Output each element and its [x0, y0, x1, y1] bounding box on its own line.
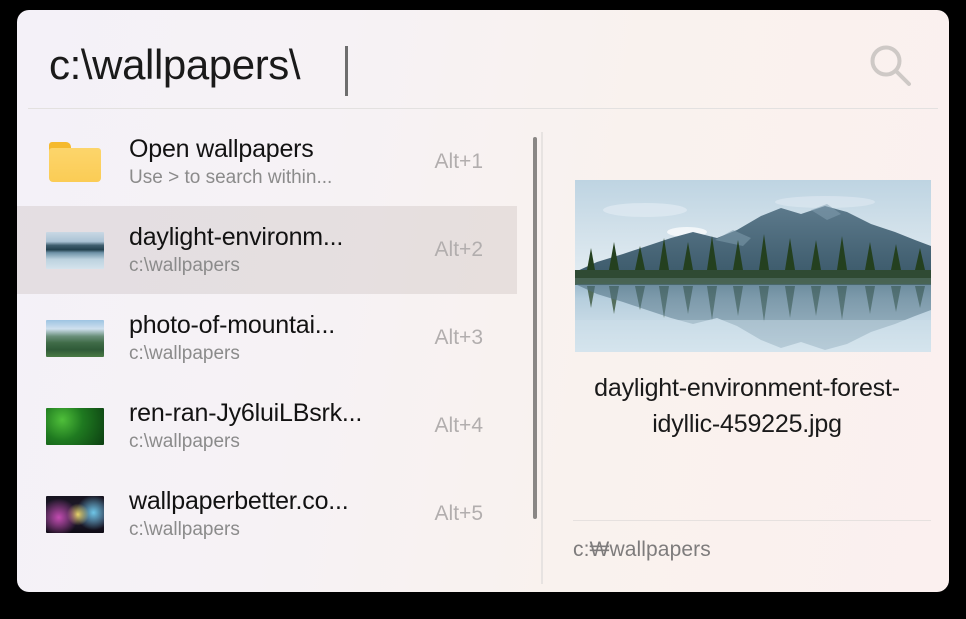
result-shortcut: Alt+1	[435, 150, 517, 174]
list-item[interactable]: photo-of-mountai... c:\wallpapers Alt+3	[17, 294, 517, 382]
search-icon[interactable]	[867, 42, 915, 90]
result-icon	[46, 404, 104, 448]
image-thumbnail	[46, 232, 104, 269]
image-thumbnail	[46, 320, 104, 357]
result-text: daylight-environm... c:\wallpapers	[129, 222, 435, 279]
launcher-window: Open wallpapers Use > to search within..…	[17, 10, 949, 592]
search-input[interactable]	[49, 40, 829, 90]
result-text: Open wallpapers Use > to search within..…	[129, 134, 435, 191]
result-shortcut: Alt+5	[435, 502, 517, 526]
result-title: Open wallpapers	[129, 134, 435, 164]
result-subtitle: c:\wallpapers	[129, 429, 435, 455]
result-subtitle: Use > to search within...	[129, 165, 435, 191]
text-cursor	[345, 46, 348, 96]
result-text: photo-of-mountai... c:\wallpapers	[129, 310, 435, 367]
list-item[interactable]: Open wallpapers Use > to search within..…	[17, 118, 517, 206]
list-item[interactable]: ren-ran-Jy6luiLBsrk... c:\wallpapers Alt…	[17, 382, 517, 470]
preview-filename: daylight-environment-forest-idyllic-4592…	[561, 370, 933, 442]
result-text: ren-ran-Jy6luiLBsrk... c:\wallpapers	[129, 398, 435, 455]
scrollbar-thumb[interactable]	[533, 137, 537, 519]
result-icon	[46, 316, 104, 360]
search-bar-divider	[28, 108, 938, 109]
result-shortcut: Alt+2	[435, 238, 517, 262]
result-shortcut: Alt+3	[435, 326, 517, 350]
list-item[interactable]: daylight-environm... c:\wallpapers Alt+2	[17, 206, 517, 294]
result-shortcut: Alt+4	[435, 414, 517, 438]
image-thumbnail	[46, 496, 104, 533]
result-subtitle: c:\wallpapers	[129, 253, 435, 279]
result-title: daylight-environm...	[129, 222, 435, 252]
folder-icon	[49, 142, 101, 182]
preview-image	[575, 180, 931, 352]
results-list[interactable]: Open wallpapers Use > to search within..…	[17, 118, 517, 592]
result-icon	[46, 228, 104, 272]
search-bar	[17, 10, 949, 108]
result-icon	[46, 492, 104, 536]
preview-pane: daylight-environment-forest-idyllic-4592…	[545, 118, 949, 592]
list-item[interactable]: wallpaperbetter.co... c:\wallpapers Alt+…	[17, 470, 517, 558]
result-subtitle: c:\wallpapers	[129, 517, 435, 543]
result-text: wallpaperbetter.co... c:\wallpapers	[129, 486, 435, 543]
image-thumbnail	[46, 408, 104, 445]
result-icon	[46, 140, 104, 184]
result-subtitle: c:\wallpapers	[129, 341, 435, 367]
result-title: wallpaperbetter.co...	[129, 486, 435, 516]
result-title: ren-ran-Jy6luiLBsrk...	[129, 398, 435, 428]
result-title: photo-of-mountai...	[129, 310, 435, 340]
preview-divider	[573, 520, 931, 521]
pane-divider	[541, 132, 543, 584]
preview-path: c:₩wallpapers	[573, 538, 711, 562]
